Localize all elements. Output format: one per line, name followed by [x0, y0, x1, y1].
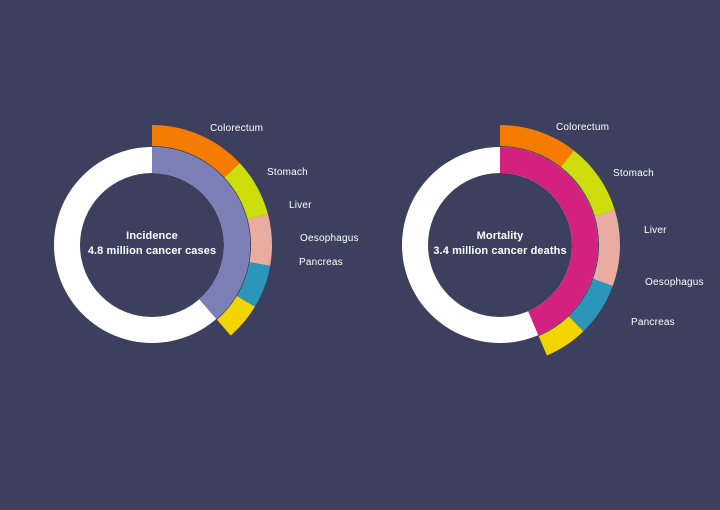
incidence-donut-label-colorectum: Colorectum	[210, 123, 263, 134]
mortality-donut-label-stomach: Stomach	[613, 168, 654, 179]
incidence-donut-label-oesophagus: Oesophagus	[300, 233, 359, 244]
incidence-donut-label-stomach: Stomach	[267, 167, 308, 178]
chart-canvas: Incidence4.8 million cancer casesColorec…	[0, 0, 720, 510]
incidence-donut-segment-liver	[248, 214, 272, 266]
donut-charts-svg	[0, 0, 720, 510]
mortality-donut-label-liver: Liver	[644, 225, 667, 236]
incidence-donut-label-pancreas: Pancreas	[299, 257, 343, 268]
mortality-donut-label-oesophagus: Oesophagus	[645, 277, 704, 288]
incidence-donut-label-liver: Liver	[289, 200, 312, 211]
mortality-donut-label-colorectum: Colorectum	[556, 122, 609, 133]
mortality-donut-label-pancreas: Pancreas	[631, 317, 675, 328]
